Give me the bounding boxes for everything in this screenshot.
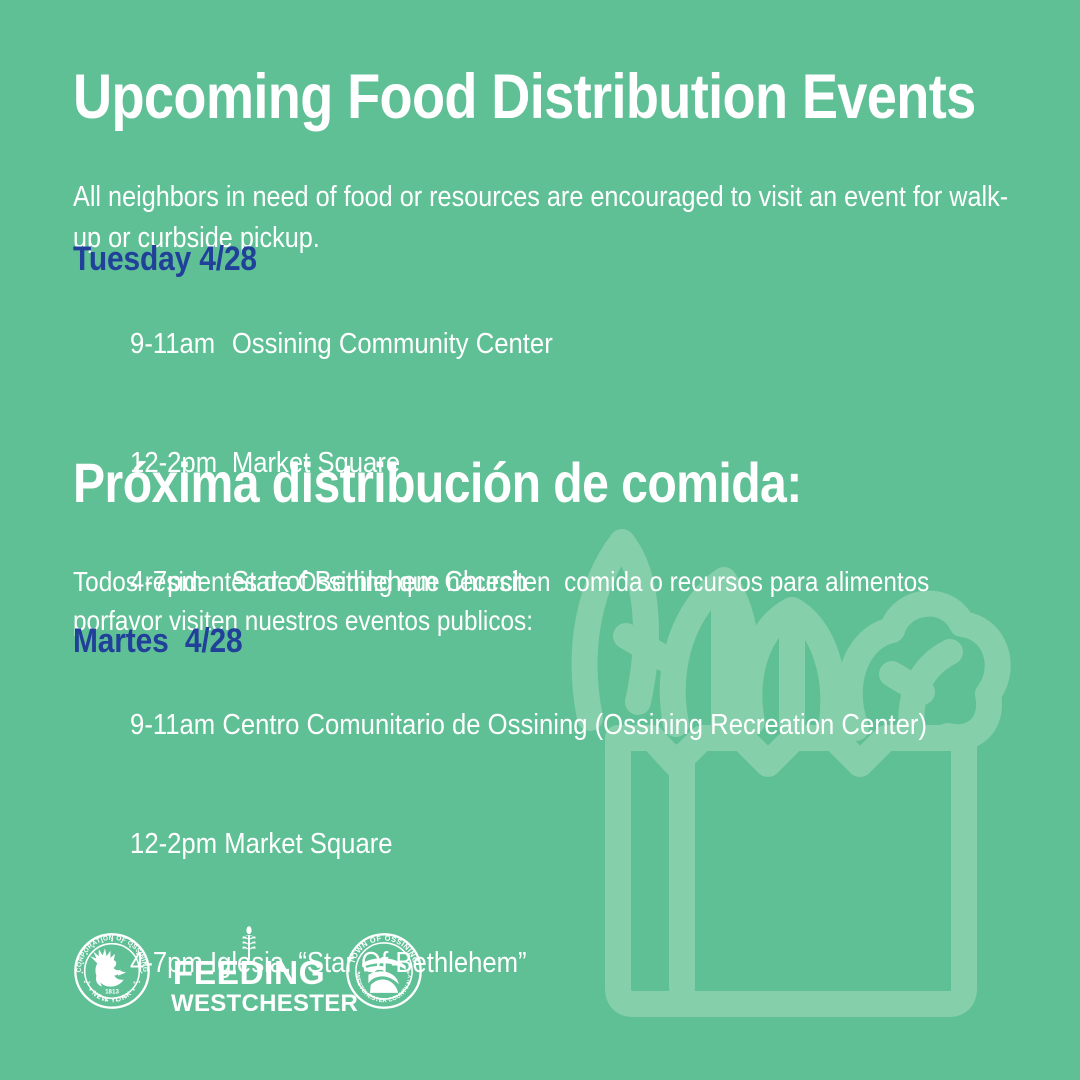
schedule-time: 9-11am — [130, 325, 232, 365]
village-of-ossining-seal-icon: CORPORATION OF OSSINING NEW YORK 1813 * … — [73, 932, 151, 1010]
day-heading-spanish: Martes 4/28 — [73, 624, 243, 658]
schedule-row: 12-2pm Market Square — [73, 785, 927, 904]
svg-text:*: * — [357, 970, 360, 979]
schedule-location: Centro Comunitario de Ossining (Ossining… — [222, 709, 927, 741]
day-heading-english: Tuesday 4/28 — [73, 242, 257, 276]
schedule-time: 12-2pm — [130, 828, 217, 860]
schedule-location: Market Square — [224, 828, 392, 860]
svg-text:*: * — [133, 981, 136, 988]
logo-strip: CORPORATION OF OSSINING NEW YORK 1813 * … — [73, 921, 493, 1021]
schedule-location: Ossining Community Center — [232, 328, 553, 360]
schedule-row: 9-11am Centro Comunitario de Ossining (O… — [73, 666, 927, 785]
page-title-spanish: Próxima distribución de comida: — [73, 455, 802, 511]
feeding-westchester-logo: FEEDING WESTCHESTER — [171, 926, 327, 1017]
town-of-ossining-seal-icon: TOWN OF OSSINING WESTCHESTER COUNTY N.Y.… — [345, 932, 423, 1010]
svg-text:*: * — [88, 981, 91, 988]
page-title-english: Upcoming Food Distribution Events — [73, 66, 976, 129]
feeding-westchester-line1: FEEDING — [171, 958, 327, 991]
flyer-canvas: Upcoming Food Distribution Events All ne… — [0, 0, 1080, 1080]
flyer-content: Upcoming Food Distribution Events All ne… — [73, 0, 1043, 1080]
schedule-time: 9-11am — [130, 709, 215, 741]
schedule-row: 9-11amOssining Community Center — [73, 285, 553, 404]
svg-text:1813: 1813 — [105, 989, 119, 996]
feeding-westchester-line2: WESTCHESTER — [171, 992, 327, 1016]
svg-text:*: * — [407, 970, 410, 979]
